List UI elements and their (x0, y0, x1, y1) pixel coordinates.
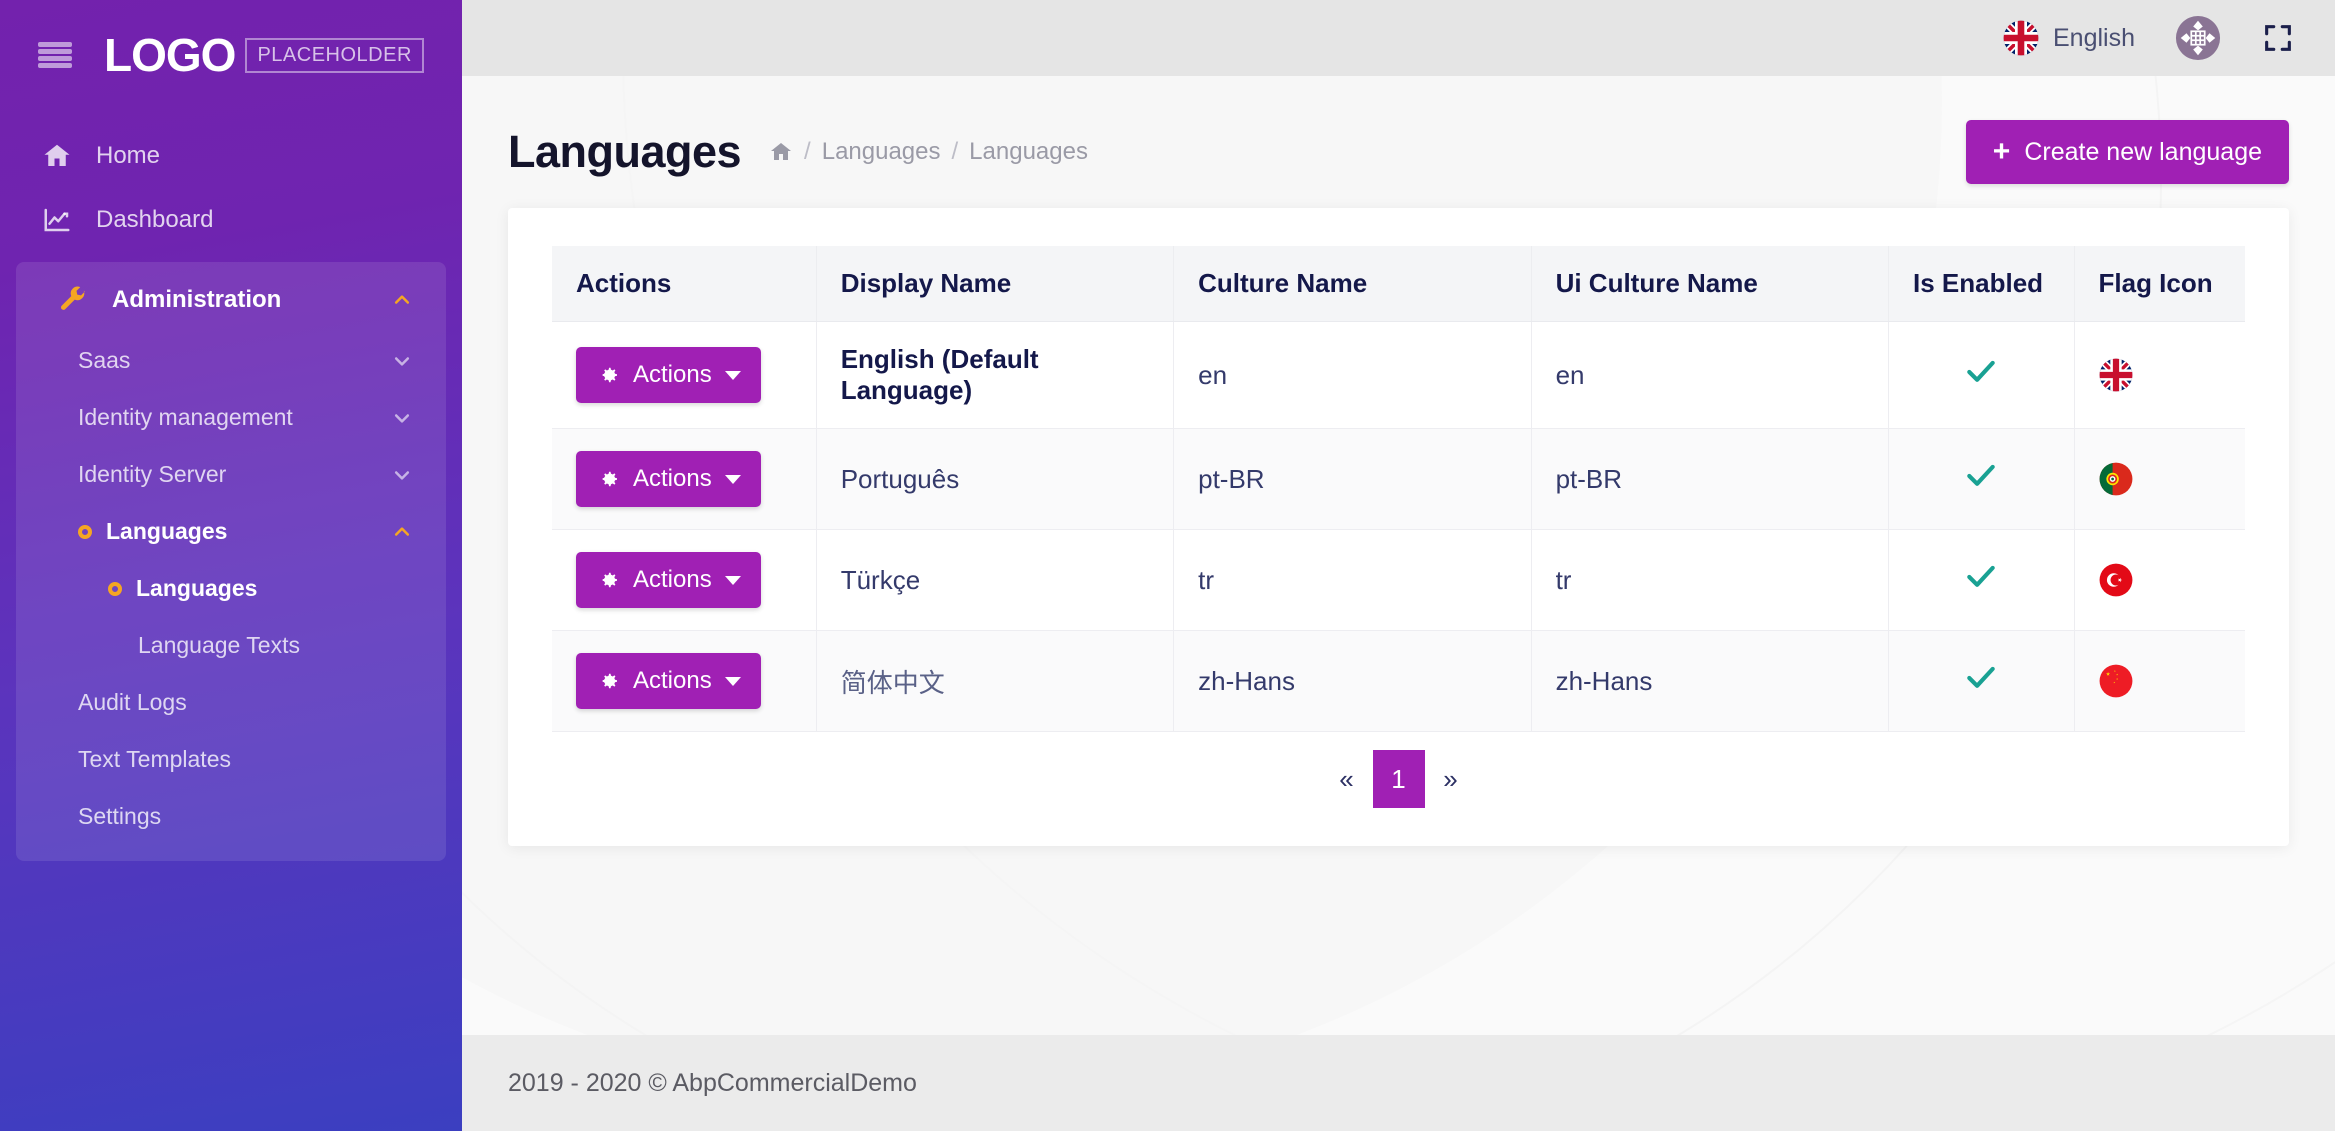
cell-ui-culture-name: en (1531, 322, 1888, 429)
brand-header: LOGO PLACEHOLDER (0, 0, 462, 110)
sidebar-item-dashboard[interactable]: Dashboard (0, 188, 462, 252)
languages-table: Actions Display Name Culture Name Ui Cul… (552, 246, 2245, 732)
breadcrumb: / Languages / Languages (769, 138, 1088, 166)
sidebar-item-home[interactable]: Home (0, 124, 462, 188)
home-icon[interactable] (769, 140, 793, 164)
sidebar-item-text-templates[interactable]: Text Templates (16, 731, 446, 788)
sidebar-item-label: Settings (78, 803, 412, 830)
bullet-dot-icon (108, 582, 122, 596)
cell-culture-name: en (1174, 322, 1531, 429)
caret-down-icon (725, 677, 741, 686)
tenant-logo-icon[interactable] (2175, 15, 2221, 61)
check-icon (1964, 665, 1998, 691)
cell-flag (2074, 530, 2245, 631)
caret-down-icon (725, 371, 741, 380)
cell-display-name: English (Default Language) (816, 322, 1173, 429)
create-button-label: Create new language (2024, 138, 2262, 167)
chevron-down-icon (392, 351, 412, 371)
display-name-text: 简体中文 (841, 668, 945, 698)
cell-display-name: Português (816, 429, 1173, 530)
sidebar-group-administration: Administration Saas Identity management (16, 262, 446, 861)
uk-flag-icon (2003, 20, 2039, 56)
app-root: LOGO PLACEHOLDER Home (0, 0, 2335, 1131)
sidebar-item-language-texts[interactable]: Language Texts (16, 617, 446, 674)
sidebar-nav: Home Dashboard (0, 110, 462, 861)
page-header: Languages / Languages / Languages + Crea… (508, 76, 2289, 208)
sidebar: LOGO PLACEHOLDER Home (0, 0, 462, 1131)
cell-display-name: 简体中文 (816, 631, 1173, 732)
caret-down-icon (725, 475, 741, 484)
hamburger-menu-icon[interactable] (38, 42, 72, 68)
sidebar-item-audit-logs[interactable]: Audit Logs (16, 674, 446, 731)
languages-card: Actions Display Name Culture Name Ui Cul… (508, 208, 2289, 846)
main-region: English Langua (462, 0, 2335, 1131)
turkey-flag-icon (2099, 563, 2222, 597)
cell-actions: Actions (552, 322, 816, 429)
uk-flag-icon (2099, 358, 2222, 392)
pagination-next[interactable]: » (1425, 750, 1477, 808)
cell-is-enabled (1889, 530, 2075, 631)
check-icon (1964, 564, 1998, 590)
sidebar-item-label: Home (96, 142, 428, 170)
gear-icon (596, 568, 620, 592)
breadcrumb-separator: / (804, 138, 811, 166)
column-header-ui-culture-name: Ui Culture Name (1531, 246, 1888, 322)
check-icon (1964, 463, 1998, 489)
actions-dropdown-button[interactable]: Actions (576, 347, 761, 403)
language-label: English (2053, 24, 2135, 53)
cell-is-enabled (1889, 631, 2075, 732)
sidebar-item-label: Language Texts (138, 632, 412, 659)
table-row: Actions 简体中文 zh-Hans zh-Hans (552, 631, 2245, 732)
column-header-flag-icon: Flag Icon (2074, 246, 2245, 322)
cell-ui-culture-name: tr (1531, 530, 1888, 631)
breadcrumb-item-2[interactable]: Languages (969, 138, 1088, 166)
table-row: Actions Türkçe tr tr (552, 530, 2245, 631)
sidebar-item-languages-child[interactable]: Languages (16, 560, 446, 617)
sidebar-item-label: Administration (112, 286, 370, 314)
sidebar-item-settings[interactable]: Settings (16, 788, 446, 845)
cell-flag (2074, 631, 2245, 732)
home-icon (40, 141, 74, 171)
chevron-down-icon (392, 408, 412, 428)
chart-icon (40, 205, 74, 235)
sidebar-item-label: Languages (106, 518, 392, 545)
caret-down-icon (725, 576, 741, 585)
cell-is-enabled (1889, 322, 2075, 429)
fullscreen-icon[interactable] (2261, 21, 2295, 55)
table-row: Actions English (Default Language) en en (552, 322, 2245, 429)
sidebar-item-identity-server[interactable]: Identity Server (16, 446, 446, 503)
actions-label: Actions (633, 361, 712, 389)
cell-culture-name: tr (1174, 530, 1531, 631)
language-switcher[interactable]: English (2003, 20, 2135, 56)
page-content: Languages / Languages / Languages + Crea… (462, 76, 2335, 1035)
cell-flag (2074, 429, 2245, 530)
footer-text: 2019 - 2020 © AbpCommercialDemo (508, 1069, 917, 1098)
breadcrumb-separator: / (952, 138, 959, 166)
page-title: Languages (508, 126, 741, 178)
actions-label: Actions (633, 566, 712, 594)
top-header-bar: English (462, 0, 2335, 76)
chevron-down-icon (392, 465, 412, 485)
check-icon (1964, 359, 1998, 385)
table-body: Actions English (Default Language) en en (552, 322, 2245, 732)
pagination-prev[interactable]: « (1321, 750, 1373, 808)
table-row: Actions Português pt-BR pt-BR (552, 429, 2245, 530)
column-header-actions: Actions (552, 246, 816, 322)
sidebar-item-languages[interactable]: Languages (16, 503, 446, 560)
sidebar-item-label: Text Templates (78, 746, 412, 773)
chevron-up-icon (392, 522, 412, 542)
column-header-is-enabled: Is Enabled (1889, 246, 2075, 322)
table-header-row: Actions Display Name Culture Name Ui Cul… (552, 246, 2245, 322)
gear-icon (596, 669, 620, 693)
cell-actions: Actions (552, 631, 816, 732)
cell-display-name: Türkçe (816, 530, 1173, 631)
display-name-text: English (Default Language) (841, 344, 1039, 405)
cell-culture-name: zh-Hans (1174, 631, 1531, 732)
column-header-display-name: Display Name (816, 246, 1173, 322)
sidebar-item-identity-management[interactable]: Identity management (16, 389, 446, 446)
create-new-language-button[interactable]: + Create new language (1966, 120, 2289, 184)
cell-culture-name: pt-BR (1174, 429, 1531, 530)
sidebar-item-saas[interactable]: Saas (16, 332, 446, 389)
sidebar-item-label: Saas (78, 347, 392, 374)
logo-text: LOGO (104, 32, 235, 78)
sidebar-item-label: Languages (136, 575, 412, 602)
bullet-dot-icon (78, 525, 92, 539)
actions-dropdown-button[interactable]: Actions (576, 552, 761, 608)
plus-icon: + (1993, 137, 2011, 167)
logo[interactable]: LOGO PLACEHOLDER (104, 32, 424, 78)
cell-flag (2074, 322, 2245, 429)
sidebar-item-label: Identity Server (78, 461, 392, 488)
sidebar-item-administration[interactable]: Administration (16, 268, 446, 332)
portugal-flag-icon (2099, 462, 2222, 496)
sidebar-item-label: Dashboard (96, 206, 428, 234)
logo-placeholder-badge: PLACEHOLDER (245, 38, 423, 73)
cell-ui-culture-name: zh-Hans (1531, 631, 1888, 732)
chevron-up-icon (392, 290, 412, 310)
actions-label: Actions (633, 667, 712, 695)
gear-icon (596, 363, 620, 387)
cell-actions: Actions (552, 429, 816, 530)
gear-icon (596, 467, 620, 491)
sidebar-item-label: Identity management (78, 404, 392, 431)
cell-actions: Actions (552, 530, 816, 631)
china-flag-icon (2099, 664, 2222, 698)
actions-dropdown-button[interactable]: Actions (576, 451, 761, 507)
breadcrumb-item-1[interactable]: Languages (822, 138, 941, 166)
wrench-icon (56, 285, 90, 315)
pagination-page-1[interactable]: 1 (1373, 750, 1425, 808)
cell-is-enabled (1889, 429, 2075, 530)
table-head: Actions Display Name Culture Name Ui Cul… (552, 246, 2245, 322)
cell-ui-culture-name: pt-BR (1531, 429, 1888, 530)
sidebar-item-label: Audit Logs (78, 689, 412, 716)
pagination: « 1 » (552, 732, 2245, 818)
footer: 2019 - 2020 © AbpCommercialDemo (462, 1035, 2335, 1131)
actions-label: Actions (633, 465, 712, 493)
actions-dropdown-button[interactable]: Actions (576, 653, 761, 709)
column-header-culture-name: Culture Name (1174, 246, 1531, 322)
